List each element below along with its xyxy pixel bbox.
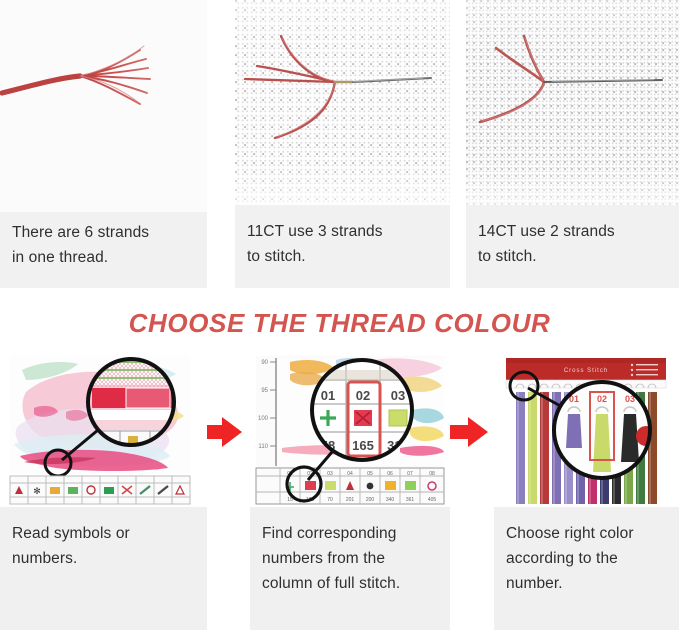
svg-text:08: 08 (429, 471, 435, 477)
eleven-count-panel: 11CT use 3 strands to stitch. (235, 0, 450, 288)
caption-line-1: Choose right color (506, 521, 667, 546)
svg-text:04: 04 (347, 471, 353, 477)
ruler-label-100: 100 (258, 416, 269, 422)
choose-color-caption: Choose right color according to the numb… (494, 507, 679, 630)
caption-line-2: to stitch. (247, 244, 438, 269)
eleven-count-panel-caption: 11CT use 3 strands to stitch. (235, 205, 450, 288)
section-title: CHOOSE THE THREAD COLOUR (0, 302, 679, 344)
pattern-chart-magnified-photo: ✻ (0, 352, 207, 507)
floss-card-illustration: Cross Stitch (494, 352, 679, 507)
ruler-label-90: 90 (261, 360, 268, 366)
caption-line-1: Read symbols or (12, 521, 195, 546)
11ct-aida-with-needle-photo (235, 0, 450, 205)
fourteen-count-panel-caption: 14CT use 2 strands to stitch. (466, 205, 679, 288)
floss-bundle-card-magnified-photo: Cross Stitch (494, 352, 679, 507)
svg-text:200: 200 (366, 497, 375, 503)
pattern-legend-strip: ✻ (10, 476, 190, 504)
caption-line-1: 14CT use 2 strands (478, 219, 667, 244)
caption-line-2: numbers from the (262, 546, 438, 571)
pattern-chart-illustration: ✻ (0, 352, 207, 507)
find-numbers-caption: Find corresponding numbers from the colu… (250, 507, 450, 630)
caption-line-1: 11CT use 3 strands (247, 219, 438, 244)
svg-text:06: 06 (387, 471, 393, 477)
svg-text:70: 70 (327, 497, 333, 503)
ruler-label-95: 95 (261, 388, 268, 394)
legend-column-magnified-photo: 90 95 100 110 (250, 352, 450, 507)
svg-text:201: 201 (346, 497, 355, 503)
find-numbers-panel: 90 95 100 110 (250, 352, 450, 630)
svg-text:03: 03 (327, 471, 333, 477)
six-strand-floss-illustration (0, 0, 207, 212)
caption-line-3: column of full stitch. (262, 571, 438, 596)
six-strand-floss-photo (0, 0, 207, 212)
svg-text:07: 07 (407, 471, 413, 477)
floss-card-header: Cross Stitch (506, 358, 666, 380)
14ct-aida-with-needle-photo (466, 0, 679, 205)
strands-panel-caption: There are 6 strands in one thread. (0, 212, 207, 288)
magnified-floss-code-02: 02 (597, 394, 607, 404)
choose-color-panel: Cross Stitch (494, 352, 679, 630)
floss-card-header-label: Cross Stitch (564, 368, 608, 374)
caption-line-2: to stitch. (478, 244, 667, 269)
magnified-code-01: 01 (321, 388, 335, 403)
svg-text:361: 361 (406, 497, 415, 503)
strands-panel: There are 6 strands in one thread. (0, 0, 207, 288)
svg-text:405: 405 (428, 497, 437, 503)
caption-line-3: number. (506, 571, 667, 596)
three-strands-needle-illustration (235, 0, 450, 205)
caption-line-1: There are 6 strands (12, 220, 195, 245)
caption-line-2: in one thread. (12, 245, 195, 270)
legend-column-illustration: 90 95 100 110 (250, 352, 450, 507)
caption-line-2: according to the (506, 546, 667, 571)
svg-text:340: 340 (386, 497, 395, 503)
ruler-label-110: 110 (258, 444, 268, 450)
caption-line-1: Find corresponding (262, 521, 438, 546)
magnified-number-165: 165 (352, 438, 374, 453)
full-stitch-legend-strip: 010203 040506 0708 1516570 201200340 (256, 468, 444, 504)
read-symbols-panel: ✻ Read symbols or numbers. (0, 352, 207, 630)
svg-text:05: 05 (367, 471, 373, 477)
magnified-code-03: 03 (391, 388, 405, 403)
two-strands-needle-illustration (466, 0, 679, 205)
caption-line-2: numbers. (12, 546, 195, 571)
read-symbols-caption: Read symbols or numbers. (0, 507, 207, 630)
magnified-code-02: 02 (356, 388, 370, 403)
fourteen-count-panel: 14CT use 2 strands to stitch. (466, 0, 679, 288)
svg-text:✻: ✻ (33, 486, 41, 496)
